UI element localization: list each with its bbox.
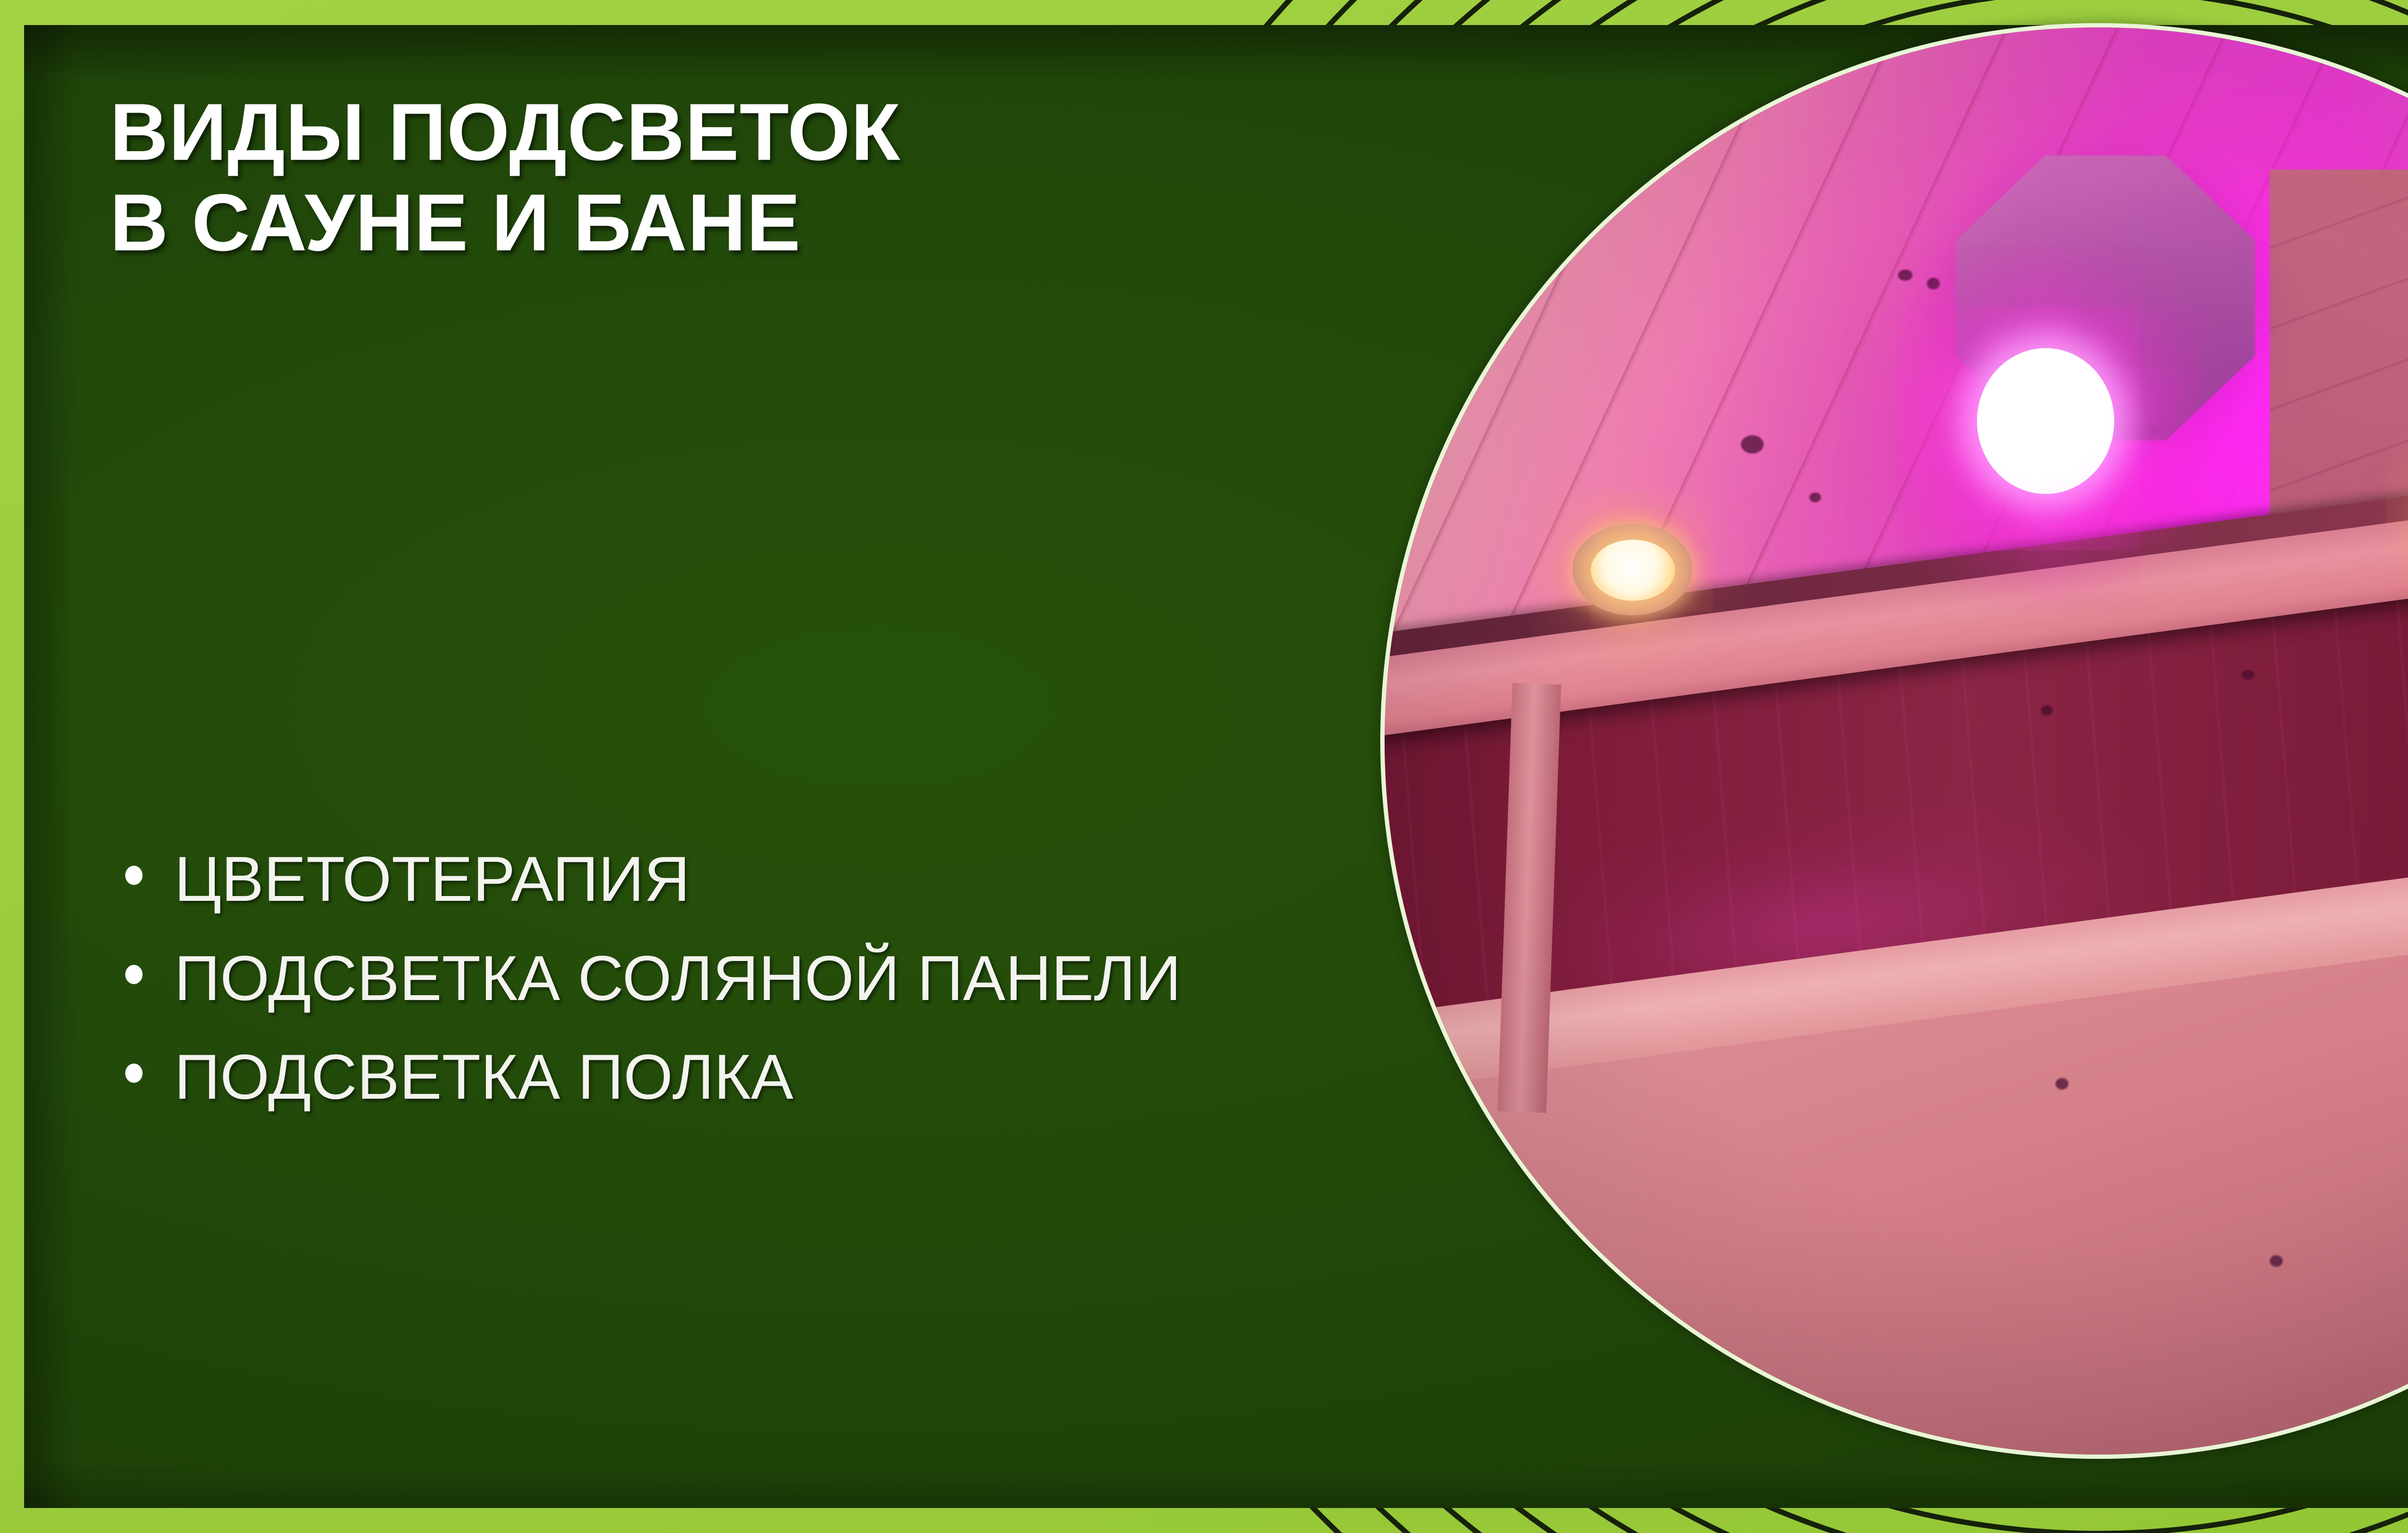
page-title: ВИДЫ ПОДСВЕТОК В САУНЕ И БАНЕ bbox=[110, 87, 1362, 268]
left-downlight-bulb bbox=[1591, 540, 1675, 601]
bullet-dot-icon bbox=[125, 965, 143, 984]
bullet-dot-icon bbox=[125, 1064, 143, 1083]
headline-line-2: В САУНЕ И БАНЕ bbox=[110, 177, 1362, 268]
photo-clip bbox=[1384, 26, 2408, 1455]
headline-line-1: ВИДЫ ПОДСВЕТОК bbox=[110, 87, 1362, 177]
sauna-scene bbox=[1384, 26, 2408, 1455]
wood-knot bbox=[2241, 670, 2254, 680]
wood-knot bbox=[2041, 705, 2053, 715]
sauna-ceiling-photo bbox=[1380, 23, 2408, 1459]
list-item: ПОДСВЕТКА ПОЛКА bbox=[115, 1036, 1415, 1118]
wood-knot bbox=[2270, 1255, 2283, 1267]
center-lamp-globe bbox=[1977, 348, 2114, 494]
banner-root: ВИДЫ ПОДСВЕТОК В САУНЕ И БАНЕ ЦВЕТОТЕРАП… bbox=[0, 0, 2408, 1533]
list-item: ПОДСВЕТКА СОЛЯНОЙ ПАНЕЛИ bbox=[115, 937, 1415, 1020]
list-item-label: ПОДСВЕТКА ПОЛКА bbox=[174, 1041, 793, 1112]
list-item-label: ПОДСВЕТКА СОЛЯНОЙ ПАНЕЛИ bbox=[174, 943, 1181, 1013]
feature-list: ЦВЕТОТЕРАПИЯ ПОДСВЕТКА СОЛЯНОЙ ПАНЕЛИ ПО… bbox=[115, 838, 1415, 1135]
wood-knot bbox=[2055, 1078, 2068, 1090]
headline-block: ВИДЫ ПОДСВЕТОК В САУНЕ И БАНЕ bbox=[110, 87, 1362, 268]
list-item-label: ЦВЕТОТЕРАПИЯ bbox=[174, 844, 690, 914]
bullet-dot-icon bbox=[125, 866, 143, 885]
list-item: ЦВЕТОТЕРАПИЯ bbox=[115, 838, 1415, 921]
